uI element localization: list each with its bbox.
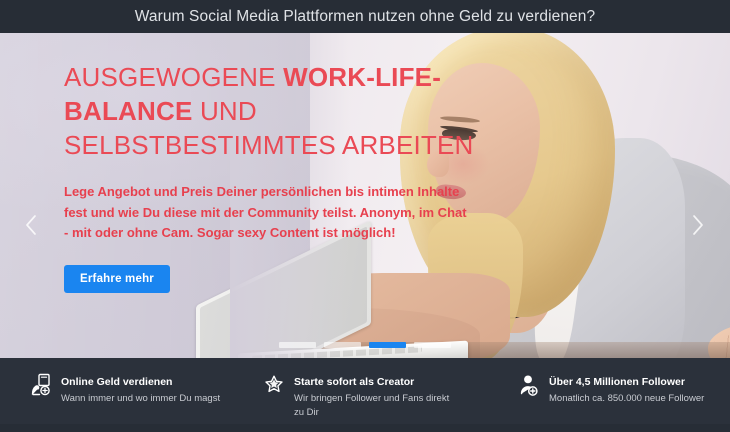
headline-part-4: SELBSTBESTIMMTES ARBEITEN <box>64 130 474 160</box>
hero-headline: AUSGEWOGENE WORK-LIFE-BALANCE UNDSELBSTB… <box>64 61 484 162</box>
carousel-indicator-2[interactable] <box>324 342 361 348</box>
feature-item-followers: Über 4,5 Millionen Follower Monatlich ca… <box>518 358 718 406</box>
headline-part-3: UND <box>193 96 257 126</box>
feature-subtitle: Wann immer und wo immer Du magst <box>61 392 220 406</box>
feature-text: Online Geld verdienen Wann immer und wo … <box>61 372 220 406</box>
chevron-right-icon <box>690 214 706 236</box>
chevron-left-icon <box>23 214 39 236</box>
hero-carousel: AUSGEWOGENE WORK-LIFE-BALANCE UNDSELBSTB… <box>0 33 730 358</box>
carousel-indicators <box>279 342 451 348</box>
carousel-indicator-1[interactable] <box>279 342 316 348</box>
hero-paragraph: Lege Angebot und Preis Deiner persönlich… <box>64 182 472 242</box>
page-root: Warum Social Media Plattformen nutzen oh… <box>0 0 730 432</box>
feature-title: Starte sofort als Creator <box>294 376 414 388</box>
feature-bar: Online Geld verdienen Wann immer und wo … <box>0 358 730 424</box>
feature-item-earn-money: Online Geld verdienen Wann immer und wo … <box>30 358 255 406</box>
window-titlebar: Warum Social Media Plattformen nutzen oh… <box>0 0 730 33</box>
page-title: Warum Social Media Plattformen nutzen oh… <box>135 8 595 26</box>
hero-content: AUSGEWOGENE WORK-LIFE-BALANCE UNDSELBSTB… <box>64 61 484 293</box>
carousel-next-button[interactable] <box>685 212 711 238</box>
feature-subtitle: Wir bringen Follower und Fans direkt zu … <box>294 392 454 420</box>
headline-part-1: AUSGEWOGENE <box>64 62 283 92</box>
feature-title: Über 4,5 Millionen Follower <box>549 376 685 388</box>
feature-text: Über 4,5 Millionen Follower Monatlich ca… <box>549 372 704 406</box>
feature-subtitle: Monatlich ca. 850.000 neue Follower <box>549 392 704 406</box>
feature-item-creator: Starte sofort als Creator Wir bringen Fo… <box>263 358 498 420</box>
feature-title: Online Geld verdienen <box>61 376 172 388</box>
carousel-indicator-3[interactable] <box>369 342 406 348</box>
hand-money-icon <box>30 373 52 397</box>
learn-more-button[interactable]: Erfahre mehr <box>64 265 170 293</box>
carousel-prev-button[interactable] <box>18 212 44 238</box>
carousel-indicator-4[interactable] <box>414 342 451 348</box>
user-add-icon <box>518 373 540 397</box>
star-icon <box>263 373 285 397</box>
footer-strip <box>0 424 730 432</box>
feature-text: Starte sofort als Creator Wir bringen Fo… <box>294 372 454 420</box>
